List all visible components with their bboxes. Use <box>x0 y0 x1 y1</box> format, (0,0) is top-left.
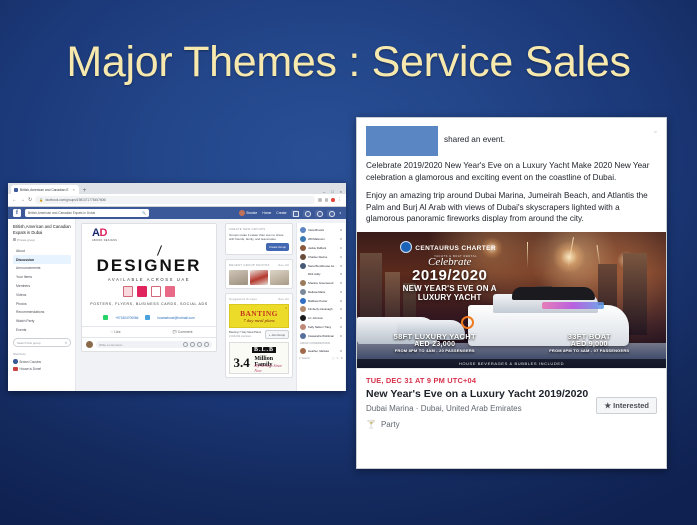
right-rail-cards: CREATE NEW GROUPS Groups make it easier … <box>225 223 293 391</box>
charter-brand-name: CENTAURUS CHARTER <box>415 245 496 252</box>
facebook-favicon <box>14 188 18 192</box>
reload-icon[interactable]: ↻ <box>28 198 32 203</box>
lock-icon: 🔒 <box>39 198 43 202</box>
search-icon: ⚲ <box>65 341 67 345</box>
post-shared-text: shared an event. <box>444 135 505 144</box>
chat-contact-name: Shanice Greenwood <box>308 281 338 285</box>
photo-thumbnail-row <box>229 270 289 285</box>
chat-contact-row[interactable]: Kelly Nelson Tracy <box>299 323 343 332</box>
join-group-button[interactable]: + Join Group <box>265 330 289 339</box>
shortcut-item-house-is-done[interactable]: House is Done! <box>13 367 71 372</box>
page-title: Major Themes : Service Sales <box>0 38 697 87</box>
avatar <box>86 341 93 348</box>
mail-icon <box>145 315 150 320</box>
package-name: 58FT LUXURY YACHT <box>394 332 476 341</box>
create-group-button[interactable]: Create Group <box>266 243 289 251</box>
create-group-text: Groups make it easier than ever to share… <box>229 233 289 241</box>
package-name: 33FT BOAT <box>549 332 629 341</box>
event-category-row: 🍸 Party <box>366 420 657 429</box>
online-status-icon <box>340 238 342 240</box>
forward-icon[interactable]: → <box>20 198 25 203</box>
designer-ad-image: AD ABOOD DESIGNS DESIGNER AVAILABLE ACRO… <box>82 224 216 326</box>
ad-phone-number: +971504700066 <box>115 316 138 320</box>
avatar <box>300 245 306 251</box>
event-post-screenshot-image: shared an event. ˇ Celebrate 2019/2020 N… <box>356 117 667 469</box>
chat-section-label: GROUP CONVERSATIONS <box>300 342 343 345</box>
online-status-icon <box>340 256 342 258</box>
avatar <box>300 271 306 277</box>
flyer-subline: NEW YEAR'S EVE ON A LUXURY YACHT <box>394 284 505 303</box>
group-search-placeholder: Search this group <box>17 341 41 345</box>
sidebar-item-watch-party[interactable]: Watch Party <box>13 317 71 326</box>
suggested-groups-card: Suggested Groups See All × BANTING 7 day… <box>225 293 293 378</box>
browser-toolbar: ← → ↻ 🔒 facebook.com/groups/198137177545… <box>8 194 346 207</box>
group-privacy: Private group <box>13 238 71 242</box>
redacted-author-name-block <box>366 126 438 156</box>
online-status-icon <box>340 273 342 275</box>
browser-tab-title: British,American and Canadian E <box>20 188 69 192</box>
like-button[interactable]: ♡ Like <box>82 327 149 337</box>
flyer-price-bar: 58FT LUXURY YACHT AED 23,000 FROM 8PM TO… <box>357 329 666 356</box>
avatar <box>300 324 306 330</box>
ad-brand-initials: AD <box>92 228 213 239</box>
chat-contact-row[interactable]: LC Johnson <box>299 314 343 323</box>
suggested-groups-title: Suggested Groups <box>229 297 257 301</box>
online-status-icon <box>340 317 342 319</box>
ad-brand-block: AD ABOOD DESIGNS <box>85 228 213 242</box>
facebook-top-nav: f British,American and Canadian Expats i… <box>8 207 346 219</box>
browser-screenshot-image: British,American and Canadian E × + – □ … <box>8 183 346 391</box>
facebook-page-body: British,American and Canadian Expats in … <box>8 219 346 391</box>
ad-email-icon-wrap <box>145 315 150 321</box>
avatar <box>239 210 245 216</box>
recent-photos-title: RECENT GROUP PHOTOS <box>229 263 270 267</box>
close-window-icon[interactable]: × <box>340 189 342 194</box>
blb-line2: My Growth Since Now <box>254 363 288 373</box>
recent-photos-header: RECENT GROUP PHOTOS See All <box>229 263 289 267</box>
blb-ad-image[interactable]: B.L.B 3.4 Million Family My Growth Since… <box>229 342 289 374</box>
messenger-icon[interactable] <box>303 210 310 217</box>
new-tab-icon[interactable]: + <box>83 188 87 194</box>
avatar <box>300 280 306 286</box>
minimize-icon[interactable]: – <box>323 189 325 194</box>
gif-icon[interactable] <box>197 342 202 347</box>
avatar <box>300 298 306 304</box>
avatar <box>300 236 306 242</box>
online-status-icon <box>340 291 342 293</box>
nav-create-link[interactable]: Create <box>276 211 286 215</box>
shortcut-label: House is Done! <box>20 367 42 371</box>
browser-tab-bar: British,American and Canadian E × + – □ … <box>8 183 346 194</box>
avatar <box>300 333 306 339</box>
online-status-icon <box>340 350 342 352</box>
blb-logo: B.L.B <box>252 347 276 353</box>
post-body-text: Celebrate 2019/2020 New Year's Eve on a … <box>357 156 666 232</box>
package-price: AED 9,000 <box>549 341 629 348</box>
chat-group-conversation-row[interactable]: Heather, Melissa <box>299 346 343 355</box>
online-status-icon <box>340 308 342 310</box>
chat-contact-row[interactable]: Will Malcourn <box>299 235 343 244</box>
create-group-title: CREATE NEW GROUPS <box>229 227 265 231</box>
feed-post-card: AD ABOOD DESIGNS DESIGNER AVAILABLE ACRO… <box>81 223 217 352</box>
chevron-down-icon[interactable]: ˇ <box>654 126 657 140</box>
chat-contact-name: Melissa Marie <box>308 290 338 294</box>
blb-number: 3.4 <box>233 355 249 371</box>
suggested-group-row: Banting 7 Day Meal Plans 2,019,162 membe… <box>229 330 289 339</box>
photo-thumbnail[interactable] <box>250 270 269 285</box>
address-bar[interactable]: 🔒 facebook.com/groups/1981371775457606/ <box>35 196 315 204</box>
poster-icon <box>123 286 133 297</box>
sidebar-item-members[interactable]: Members <box>13 282 71 291</box>
close-tab-icon[interactable]: × <box>73 188 75 192</box>
online-status-icon <box>340 229 342 231</box>
friend-requests-icon[interactable] <box>291 210 298 217</box>
chat-group-name: Heather, Melissa <box>308 349 338 353</box>
package-detail: FROM 8PM TO 4AM - 07 PASSENGERS <box>549 348 629 353</box>
package-price: AED 23,000 <box>394 341 476 348</box>
chat-contact-name: Kimberly Cavanagh <box>308 307 338 311</box>
browser-chrome: British,American and Canadian E × + – □ … <box>8 183 346 207</box>
sidebar-item-about[interactable]: About <box>13 247 71 256</box>
sidebar-item-videos[interactable]: Videos <box>13 290 71 299</box>
chat-contact-name: Charlee Devine <box>308 255 338 259</box>
chat-contact-name: LC Johnson <box>308 316 338 320</box>
life-ring-icon <box>461 316 474 329</box>
like-label: Like <box>114 330 120 334</box>
presentation-slide: Major Themes : Service Sales British,Ame… <box>0 0 697 525</box>
feed-column: AD ABOOD DESIGNS DESIGNER AVAILABLE ACRO… <box>76 219 222 391</box>
post-header: shared an event. ˇ <box>357 118 666 156</box>
emoji-icon[interactable] <box>183 342 188 347</box>
chat-search-input[interactable]: ⚲ Search <box>299 357 330 360</box>
group-name: British,American and Canadian Expats in … <box>13 224 71 235</box>
comment-label: Comment <box>178 330 193 334</box>
decorative-slash-icon <box>157 245 162 256</box>
suggested-group-info: Banting 7 Day Meal Plans 2,019,162 membe… <box>229 331 261 338</box>
photo-thumbnail[interactable] <box>229 270 248 285</box>
chat-contact-row[interactable]: Rick Addy <box>299 270 343 279</box>
sidebar-item-photos[interactable]: Photos <box>13 299 71 308</box>
suggested-groups-header: Suggested Groups See All <box>229 297 289 301</box>
photo-thumbnail[interactable] <box>270 270 289 285</box>
ad-service-icons <box>85 286 213 297</box>
group-icon <box>13 359 18 364</box>
avatar <box>300 254 306 260</box>
flyer-headline-block: Celebrate 2019/2020 NEW YEAR'S EVE ON A … <box>394 256 505 303</box>
sticker-icon[interactable] <box>204 342 209 347</box>
comment-placeholder: Write a comment... <box>99 343 124 347</box>
avatar <box>300 348 306 354</box>
chat-contact-name: Cluta Brooks <box>308 228 338 232</box>
avatar <box>300 306 306 312</box>
notifications-bell-icon[interactable] <box>315 210 322 217</box>
avatar <box>300 227 306 233</box>
shortcuts-title: Shortcuts <box>13 352 71 356</box>
event-category-label: Party <box>381 420 400 429</box>
nav-profile-name: Brooke <box>247 211 258 215</box>
chat-contact-name: Kelly Nelson Tracy <box>308 325 338 329</box>
address-bar-url: facebook.com/groups/1981371775457606/ <box>45 198 106 202</box>
sidebar-item-discussion[interactable]: Discussion <box>13 255 71 264</box>
yacht-canopy-decor <box>512 287 595 299</box>
create-group-card: CREATE NEW GROUPS Groups make it easier … <box>225 223 293 255</box>
create-group-header: CREATE NEW GROUPS <box>229 227 289 231</box>
package-cell-58ft: 58FT LUXURY YACHT AED 23,000 FROM 8PM TO… <box>394 332 476 353</box>
interested-button[interactable]: ★ Interested <box>596 397 657 414</box>
facebook-search-value: British,American and Canadian Expats in … <box>28 211 95 215</box>
post-paragraph-1: Celebrate 2019/2020 New Year's Eve on a … <box>366 160 657 183</box>
lock-icon <box>13 238 16 241</box>
flyer-year: 2019/2020 <box>394 268 505 284</box>
social-ad-icon <box>165 286 175 297</box>
chat-contact-row[interactable]: Matthew Pocter <box>299 296 343 305</box>
comment-input[interactable]: Write a comment... <box>96 341 212 348</box>
ad-phone <box>103 315 108 321</box>
charter-brand-text: CENTAURUS CHARTER YACHTS & BOAT RENTAL <box>415 237 496 258</box>
video-call-icon[interactable]: ◻ <box>332 357 334 360</box>
group-sidebar: British,American and Canadian Expats in … <box>8 219 76 391</box>
chat-contact-row[interactable]: Cluta Brooks <box>299 226 343 235</box>
group-icon <box>13 367 18 372</box>
suggested-group-members: 2,019,162 members <box>229 335 251 338</box>
chat-contact-row[interactable]: Cassandra Wohlman <box>299 331 343 340</box>
facebook-search-input[interactable]: British,American and Canadian Expats in … <box>25 209 149 217</box>
ad-headline: DESIGNER <box>85 257 213 275</box>
back-icon[interactable]: ← <box>12 198 17 203</box>
post-paragraph-2: Enjoy an amazing trip around Dubai Marin… <box>366 190 657 225</box>
ad-services-list: POSTERS, FLYERS, BUSINESS CARDS, SOCIAL … <box>85 302 213 306</box>
chat-contact-name: Jackie DuRant <box>308 246 338 250</box>
search-icon: 🔍 <box>142 211 146 215</box>
ad-brand-subtitle: ABOOD DESIGNS <box>92 239 213 242</box>
flyer-icon <box>151 286 161 297</box>
online-status-icon <box>340 335 342 337</box>
comment-button[interactable]: 💬 Comment <box>149 327 216 337</box>
event-flyer-image[interactable]: CENTAURUS CHARTER YACHTS & BOAT RENTAL C… <box>357 232 666 368</box>
chat-sidebar: Cluta Brooks Will Malcourn Jackie DuRant <box>296 223 345 391</box>
chat-contact-row[interactable]: Jackie DuRant <box>299 244 343 253</box>
shortcut-item-brown-cousins[interactable]: Brown Cousins <box>13 359 71 364</box>
avatar <box>300 263 306 269</box>
chevron-down-icon[interactable]: ▾ <box>339 211 341 215</box>
chat-contact-name: Rick Addy <box>308 272 338 276</box>
sidebar-item-recommendations[interactable]: Recommendations <box>13 308 71 317</box>
ad-subhead: AVAILABLE ACROSS UAE <box>85 277 213 282</box>
flyer-inclusions: HOUSE BEVERAGES & BUBBLES INCLUDED <box>357 359 666 368</box>
new-message-icon[interactable]: ✎ <box>336 357 338 360</box>
see-all-link[interactable]: See All <box>278 297 289 301</box>
yacht-party-lights-decor <box>542 302 604 309</box>
chat-footer: ⚲ Search ◻ ✎ ⚙ <box>299 357 343 360</box>
join-group-label: Join Group <box>271 333 285 337</box>
cocktail-icon: 🍸 <box>366 420 376 429</box>
right-rail: CREATE NEW GROUPS Groups make it easier … <box>222 219 346 391</box>
extensions-area: ⋮ <box>318 198 342 202</box>
browser-tab[interactable]: British,American and Canadian E × <box>11 185 79 194</box>
package-cell-33ft: 33FT BOAT AED 9,000 FROM 8PM TO 4AM - 07… <box>549 332 629 353</box>
sidebar-item-your-items[interactable]: Your Items <box>13 273 71 282</box>
chat-contact-row[interactable]: Charlee Devine <box>299 252 343 261</box>
chat-contact-name: Cassandra Wohlman <box>308 334 338 338</box>
charter-brand-logo: CENTAURUS CHARTER YACHTS & BOAT RENTAL <box>400 237 496 258</box>
online-status-icon <box>340 326 342 328</box>
online-status-icon <box>340 265 342 267</box>
chat-contact-row[interactable]: Shanice Greenwood <box>299 279 343 288</box>
chat-contact-row[interactable]: Melissa Marie <box>299 287 343 296</box>
chat-contact-name: Matthew Pocter <box>308 299 338 303</box>
online-status-icon <box>340 282 342 284</box>
camera-icon[interactable] <box>190 342 195 347</box>
comment-composer: Write a comment... <box>82 337 216 351</box>
business-card-icon <box>137 286 147 297</box>
package-detail: FROM 8PM TO 4AM - 20 PASSENGERS <box>394 348 476 353</box>
chat-contact-row[interactable]: Nana Brockhouse Achala <box>299 261 343 270</box>
nav-profile-link[interactable]: Brooke <box>239 210 257 216</box>
banting-ad-image[interactable]: × BANTING 7 day meal plans <box>229 304 289 328</box>
post-action-bar: ♡ Like 💬 Comment <box>82 326 216 337</box>
online-status-icon <box>340 300 342 302</box>
whatsapp-icon <box>103 315 108 320</box>
close-icon[interactable]: × <box>285 306 287 310</box>
banting-ad-subtitle: 7 day meal plans <box>232 318 286 323</box>
ad-email: huamabood@hotmail.com <box>157 316 194 320</box>
event-details-block: TUE, DEC 31 AT 9 PM UTC+04 New Year's Ev… <box>357 368 666 438</box>
facebook-nav-actions: Brooke Home Create ▾ <box>239 210 341 217</box>
sidebar-item-events[interactable]: Events <box>13 326 71 335</box>
facebook-logo-icon[interactable]: f <box>13 209 21 217</box>
nav-home-link[interactable]: Home <box>262 211 271 215</box>
chat-contact-name: Nana Brockhouse Achala <box>308 264 338 268</box>
avatar <box>300 315 306 321</box>
help-icon[interactable] <box>327 210 334 217</box>
group-nav-list: About Discussion Announcements Your Item… <box>13 247 71 335</box>
chat-search-label: Search <box>302 357 310 360</box>
group-privacy-label: Private group <box>17 238 35 242</box>
firework-streak-decor <box>527 242 528 268</box>
banting-ad-title: BANTING <box>232 309 286 318</box>
avatar <box>300 289 306 295</box>
sidebar-item-announcements[interactable]: Announcements <box>13 264 71 273</box>
chat-settings-icon[interactable]: ⚙ <box>341 357 343 360</box>
event-date: TUE, DEC 31 AT 9 PM UTC+04 <box>366 376 657 385</box>
comment-attachment-icons <box>183 342 209 347</box>
ad-contact-row: +971504700066 huamabood@hotmail.com <box>85 315 213 321</box>
group-search-input[interactable]: Search this group ⚲ <box>13 338 71 347</box>
bookmark-star-icon[interactable] <box>318 198 322 202</box>
shortcut-label: Brown Cousins <box>20 360 41 364</box>
extension-icon-red[interactable] <box>331 198 335 202</box>
maximize-icon[interactable]: □ <box>331 189 333 194</box>
extension-icon[interactable] <box>325 198 329 202</box>
recent-photos-card: RECENT GROUP PHOTOS See All <box>225 259 293 289</box>
see-all-link[interactable]: See All <box>278 263 289 267</box>
online-status-icon <box>340 247 342 249</box>
chat-contact-name: Will Malcourn <box>308 237 338 241</box>
window-controls: – □ × <box>323 189 346 194</box>
anchor-badge-icon <box>400 241 412 253</box>
browser-menu-icon[interactable]: ⋮ <box>338 198 343 202</box>
chat-contact-row[interactable]: Kimberly Cavanagh <box>299 305 343 314</box>
